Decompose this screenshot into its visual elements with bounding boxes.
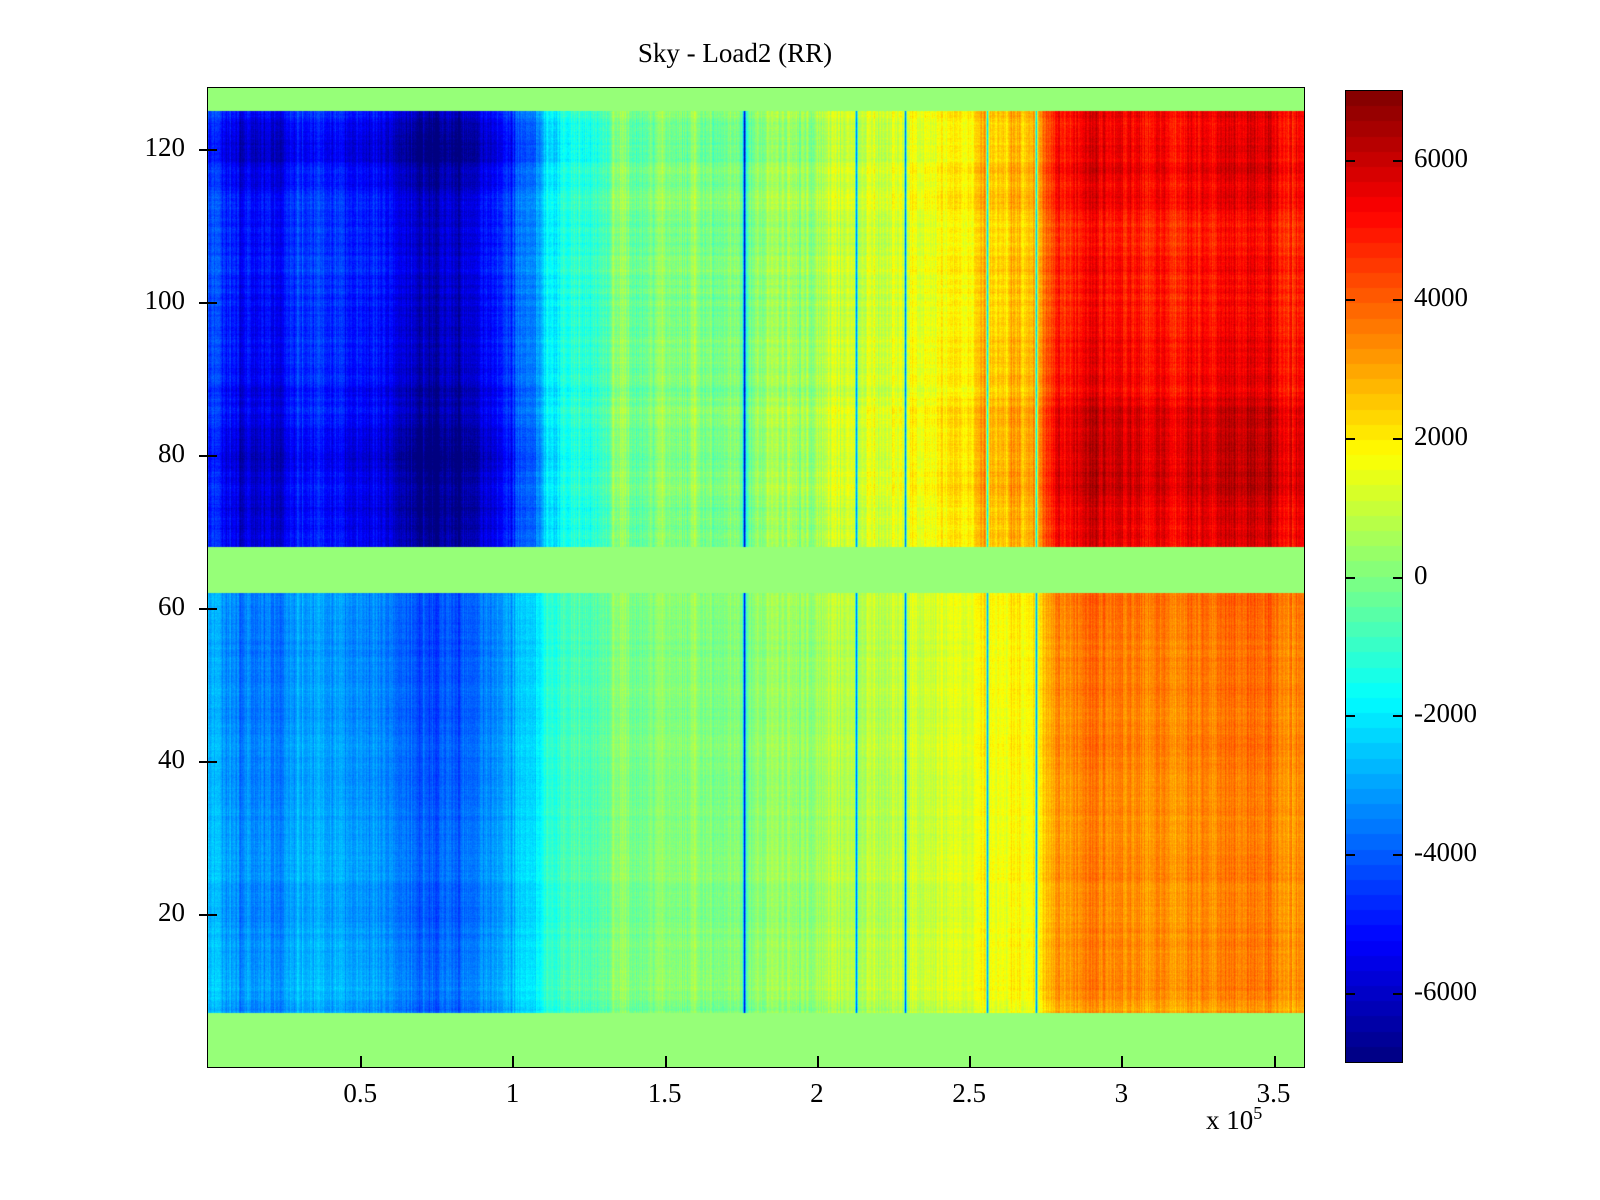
x-tick-label: 1.5 [648,1080,682,1107]
colorbar-tick-mark [1393,715,1402,717]
y-tick-mark-inner [208,608,217,610]
x-tick-label: 0.5 [343,1080,377,1107]
x-tick-mark [512,1056,514,1067]
x-tick-label: 2 [810,1080,824,1107]
matlab-figure-window: Sky - Load2 (RR) 20406080100120 0.511.52… [0,0,1600,1200]
colorbar-tick-label: 6000 [1414,145,1468,172]
y-tick-label: 80 [0,440,185,467]
colorbar-tick-mark [1393,299,1402,301]
colorbar[interactable] [1345,90,1403,1063]
colorbar-tick-mark [1346,993,1355,995]
x-tick-label: 2.5 [952,1080,986,1107]
y-tick-mark-inner [208,914,217,916]
heatmap-axes[interactable] [207,87,1305,1068]
y-tick-label: 20 [0,899,185,926]
page-title: Sky - Load2 (RR) [0,38,1470,69]
colorbar-tick-mark [1346,160,1355,162]
colorbar-tick-label: -6000 [1414,978,1477,1005]
heatmap-image[interactable] [208,88,1304,1067]
y-tick-mark [199,149,208,151]
y-tick-mark-inner [208,149,217,151]
colorbar-tick-mark [1393,438,1402,440]
x-tick-mark [1274,1056,1276,1067]
y-tick-mark [199,608,208,610]
y-tick-label: 40 [0,746,185,773]
x-tick-mark [969,1056,971,1067]
y-tick-mark [199,302,208,304]
x-tick-mark [665,1056,667,1067]
colorbar-tick-mark [1393,854,1402,856]
colorbar-tick-label: 4000 [1414,284,1468,311]
y-tick-mark-inner [208,455,217,457]
y-tick-mark [199,455,208,457]
x-tick-mark [817,1056,819,1067]
colorbar-tick-mark [1346,577,1355,579]
colorbar-tick-mark [1346,854,1355,856]
y-tick-label: 60 [0,593,185,620]
colorbar-tick-mark [1346,715,1355,717]
x-axis-exponent-label: x 105 [1206,1103,1262,1136]
y-tick-mark-inner [208,761,217,763]
x-axis-exponent-power: 5 [1253,1103,1262,1123]
x-tick-label: 1 [506,1080,520,1107]
y-tick-mark-inner [208,302,217,304]
colorbar-tick-label: 2000 [1414,423,1468,450]
x-tick-mark [1121,1056,1123,1067]
x-tick-label: 3 [1115,1080,1129,1107]
y-tick-label: 100 [0,287,185,314]
colorbar-tick-mark [1393,577,1402,579]
colorbar-tick-mark [1393,993,1402,995]
y-tick-mark [199,761,208,763]
colorbar-tick-mark [1393,160,1402,162]
colorbar-tick-label: -2000 [1414,700,1477,727]
x-axis-exponent-mantissa: x 10 [1206,1105,1253,1135]
y-tick-label: 120 [0,134,185,161]
y-tick-mark [199,914,208,916]
colorbar-tick-label: -4000 [1414,839,1477,866]
colorbar-tick-mark [1346,299,1355,301]
x-tick-mark [360,1056,362,1067]
colorbar-tick-mark [1346,438,1355,440]
colorbar-tick-label: 0 [1414,562,1428,589]
